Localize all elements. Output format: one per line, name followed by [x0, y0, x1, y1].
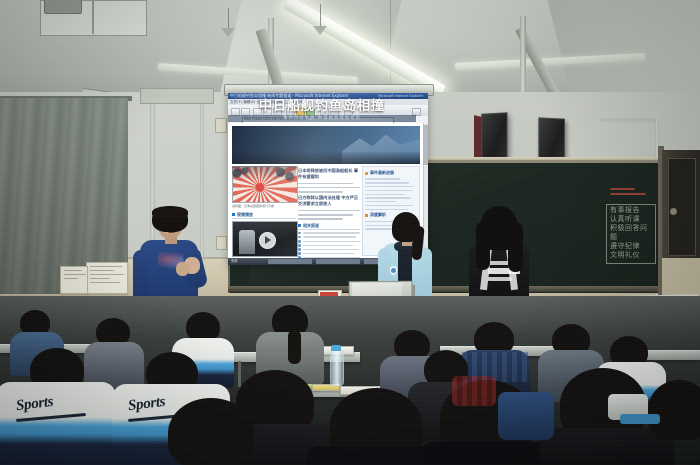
student-back-2-ponytail: [288, 330, 301, 364]
wall-poster-1: [86, 262, 128, 294]
wall-pipe-2: [200, 100, 204, 258]
wall-poster-2: [60, 266, 88, 294]
boy-presenter-hand-left: [176, 262, 189, 276]
girl2-hair-left-strand: [476, 222, 490, 270]
wall-pipe-horizontal-right: [600, 118, 658, 122]
webpage-left-column: 资料图：日本右翼团体游行示威 视频播放: [232, 166, 296, 256]
related-link-5[interactable]: [303, 249, 359, 251]
taskbar-item-1[interactable]: [268, 259, 312, 264]
news-video-player[interactable]: [232, 221, 298, 257]
related-link-1[interactable]: [303, 232, 360, 234]
classroom-photo: 有事报告 认真听课 积极回答问题 遵守纪律 文明礼仪 中日船舰钓鱼岛相撞 新闻专…: [0, 0, 700, 465]
water-bottle-1[interactable]: [330, 350, 344, 386]
water-bottle-1-cap: [331, 345, 341, 351]
news-second-headline[interactable]: 日方称将以国内法处理 中方严正交涉要求立即放人: [298, 195, 360, 207]
ceiling-fan-right-column: [520, 16, 526, 102]
page-scrollbar-thumb[interactable]: [423, 125, 428, 165]
news-lead-headline[interactable]: 日本将释放被扣中国渔船船长 事件有望缓和: [298, 168, 360, 180]
play-icon[interactable]: [259, 232, 276, 249]
related-link-3[interactable]: [303, 241, 361, 243]
hero-sea-gradient: [232, 152, 420, 164]
boy-presenter-fringe: [152, 206, 188, 218]
status-bar-text: 完成: [231, 258, 237, 265]
girl2-hair-right-strand: [508, 222, 523, 272]
news-photo-crowd-overlay: [232, 166, 296, 201]
door-kick-panel: [662, 258, 700, 298]
window-mullion: [92, 0, 94, 34]
taskbar-item-2[interactable]: [316, 259, 360, 264]
student-red-plaid-jacket: [452, 376, 496, 406]
light-cone-2: [313, 26, 327, 35]
student-blue-jacket: [498, 392, 554, 440]
latest-progress-header: 事件最新进展: [365, 170, 417, 176]
power-socket-1[interactable]: [215, 118, 227, 133]
ceiling-seam: [390, 0, 391, 96]
chalk-note-text: 有事报告 认真听课 积极回答问题 遵守纪律 文明礼仪: [610, 206, 654, 260]
girl1-badge-emblem: [391, 268, 396, 273]
news-subheadline: 事件持续发酵 中日关系再受考验: [228, 115, 416, 122]
student-desk-1-leg: [238, 361, 241, 387]
student-white-jacket-blue-stripe: [620, 414, 660, 424]
video-section-header: 视频播放: [232, 212, 296, 219]
light-cone-1: [221, 28, 235, 37]
ceiling-bevel-right: [548, 0, 700, 100]
wall-pipe-1: [150, 100, 155, 258]
related-link-6[interactable]: [303, 253, 355, 255]
light-hanger-1: [228, 8, 229, 30]
door-window-pane: [668, 158, 696, 256]
related-reports-header: 相关报道: [298, 223, 360, 230]
news-photo-protest[interactable]: [232, 166, 298, 203]
news-headline: 中日船舰钓鱼岛相撞: [228, 99, 416, 114]
related-link-2[interactable]: [303, 236, 356, 238]
video-thumbnail-figure: [239, 230, 255, 254]
wall-fixture: [44, 0, 82, 14]
door-handle[interactable]: [670, 208, 677, 215]
power-socket-2[interactable]: [216, 236, 227, 250]
news-hero-banner: [232, 126, 420, 164]
webpage-middle-column: 日本将释放被扣中国渔船船长 事件有望缓和 日方称将以国内法处理 中方严正交涉要求…: [298, 166, 360, 256]
chalk-tray: [228, 286, 658, 292]
related-link-4[interactable]: [303, 245, 353, 247]
wall-conduit-box: [140, 88, 214, 104]
chalk-note-red-heading: [608, 185, 650, 201]
news-photo-caption: 资料图：日本右翼团体游行示威: [232, 204, 296, 209]
